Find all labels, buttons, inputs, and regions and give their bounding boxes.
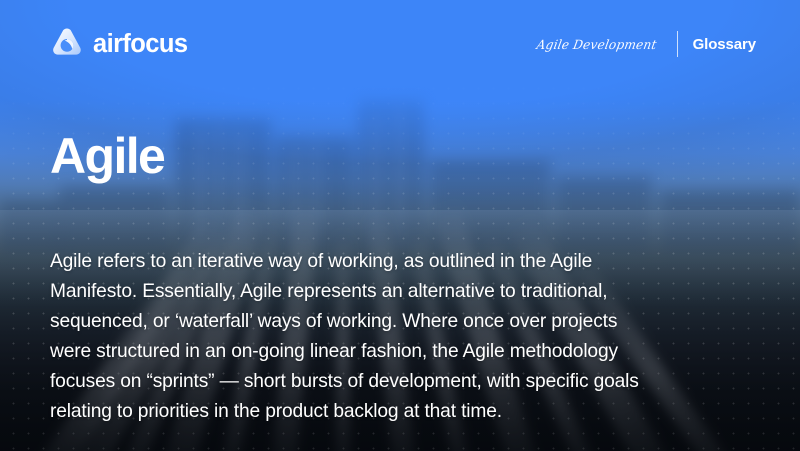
page-header: airfocus Agile Development Glossary <box>50 24 756 64</box>
airfocus-wordmark: airfocus <box>93 30 187 59</box>
page-title: Agile <box>50 130 164 183</box>
definition-text: Agile refers to an iterative way of work… <box>50 247 650 427</box>
breadcrumb-section-glossary[interactable]: Glossary <box>693 36 756 53</box>
airfocus-triangle-logo-icon <box>50 27 84 61</box>
breadcrumb-divider <box>677 31 678 57</box>
breadcrumb-category[interactable]: Agile Development <box>536 36 659 51</box>
glossary-hero-card: airfocus Agile Development Glossary Agil… <box>0 0 800 451</box>
breadcrumb: Agile Development Glossary <box>535 24 756 64</box>
airfocus-logo[interactable]: airfocus <box>50 24 187 64</box>
